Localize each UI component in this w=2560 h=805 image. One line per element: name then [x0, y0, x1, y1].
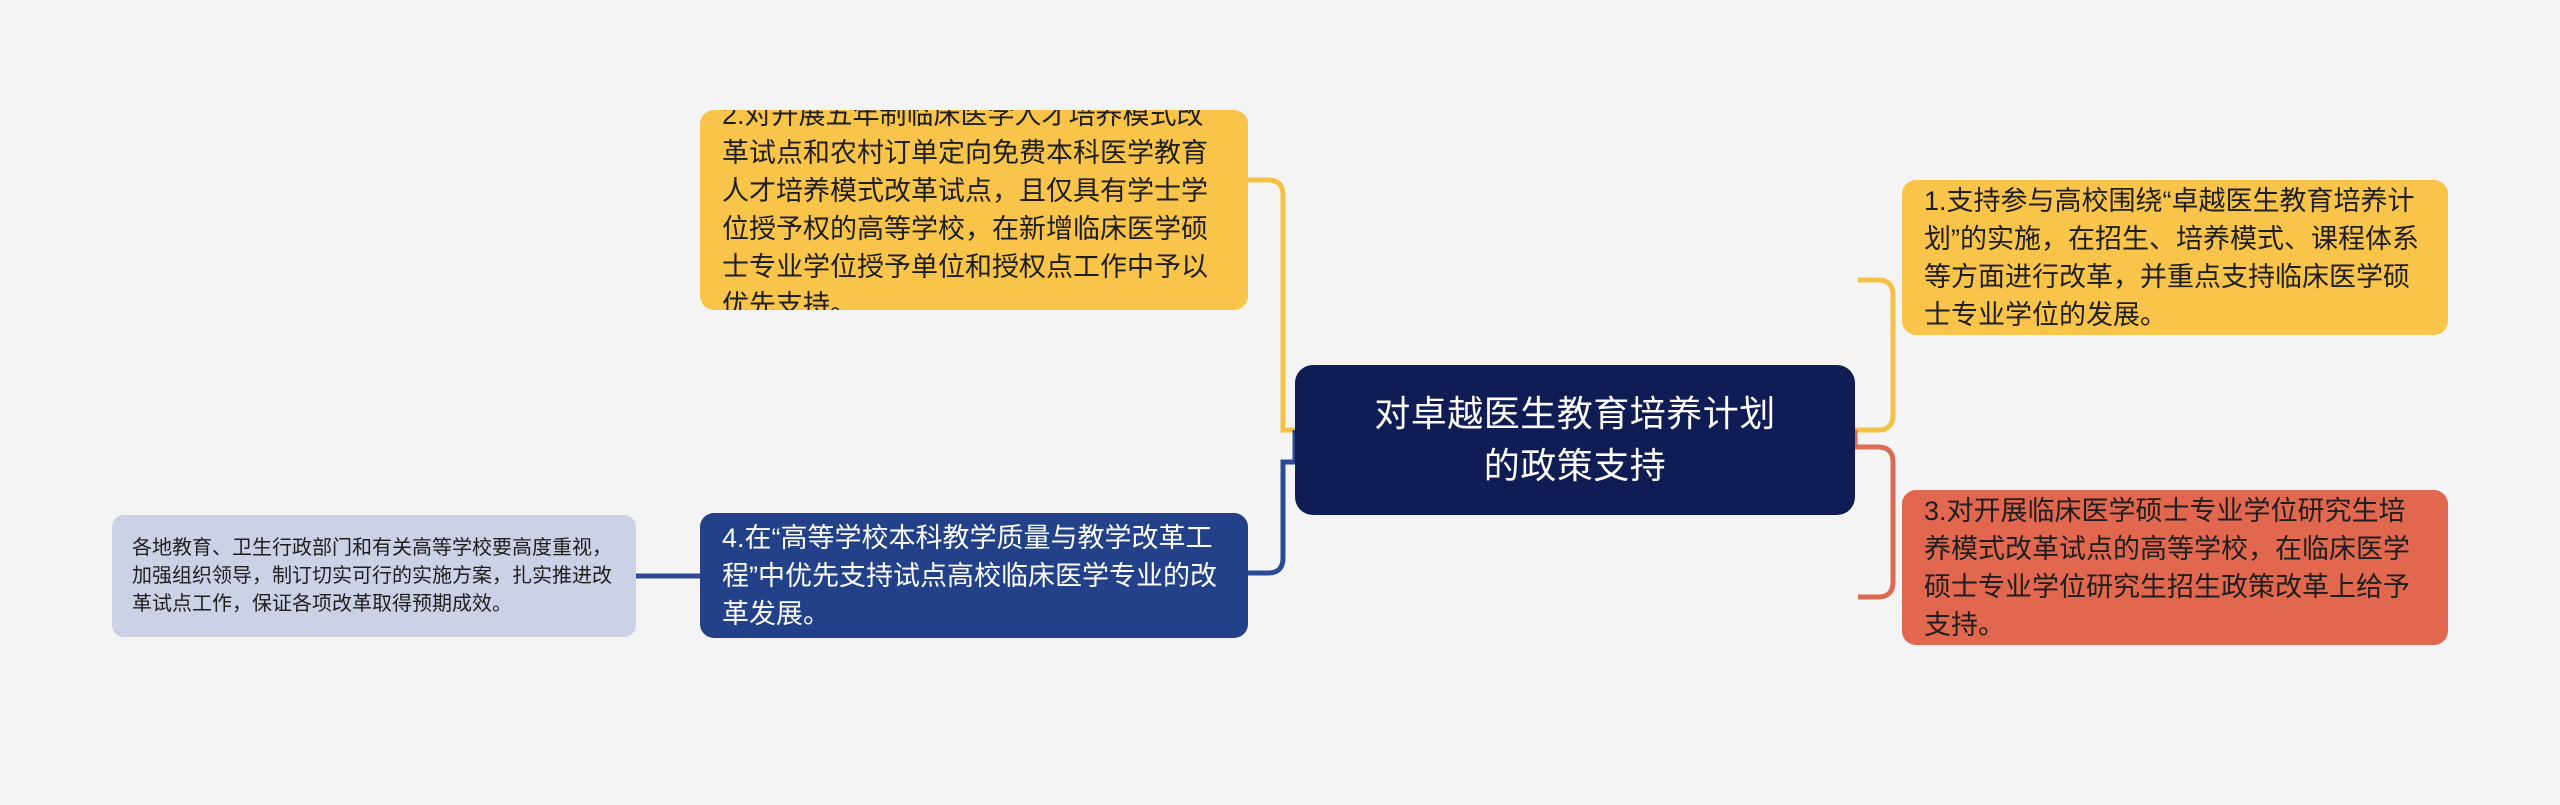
connector-layer [0, 0, 2560, 805]
branch-node-2[interactable]: 2.对开展五年制临床医学人才培养模式改革试点和农村订单定向免费本科医学教育人才培… [700, 110, 1248, 310]
leaf-node-1[interactable]: 各地教育、卫生行政部门和有关高等学校要高度重视，加强组织领导，制订切实可行的实施… [112, 515, 636, 637]
branch-node-3-label: 3.对开展临床医学硕士专业学位研究生培养模式改革试点的高等学校，在临床医学硕士专… [1924, 492, 2426, 644]
root-node[interactable]: 对卓越医生教育培养计划 的政策支持 [1295, 365, 1855, 515]
branch-node-3[interactable]: 3.对开展临床医学硕士专业学位研究生培养模式改革试点的高等学校，在临床医学硕士专… [1902, 490, 2448, 645]
branch-node-4[interactable]: 4.在“高等学校本科教学质量与教学改革工程”中优先支持试点高校临床医学专业的改革… [700, 513, 1248, 638]
branch-node-2-label: 2.对开展五年制临床医学人才培养模式改革试点和农村订单定向免费本科医学教育人才培… [722, 110, 1226, 310]
connector-branch4 [1248, 462, 1295, 573]
branch-node-1-label: 1.支持参与高校围绕“卓越医生教育培养计划”的实施，在招生、培养模式、课程体系等… [1924, 182, 2426, 334]
mindmap-canvas: 对卓越医生教育培养计划 的政策支持 2.对开展五年制临床医学人才培养模式改革试点… [0, 0, 2560, 805]
branch-node-1[interactable]: 1.支持参与高校围绕“卓越医生教育培养计划”的实施，在招生、培养模式、课程体系等… [1902, 180, 2448, 335]
branch-node-4-label: 4.在“高等学校本科教学质量与教学改革工程”中优先支持试点高校临床医学专业的改革… [722, 519, 1226, 633]
connector-branch3 [1855, 447, 1893, 597]
root-node-label: 对卓越医生教育培养计划 的政策支持 [1295, 388, 1855, 492]
connector-branch1 [1855, 280, 1893, 430]
connector-branch2 [1248, 180, 1295, 430]
leaf-node-1-label: 各地教育、卫生行政部门和有关高等学校要高度重视，加强组织领导，制订切实可行的实施… [132, 534, 616, 618]
